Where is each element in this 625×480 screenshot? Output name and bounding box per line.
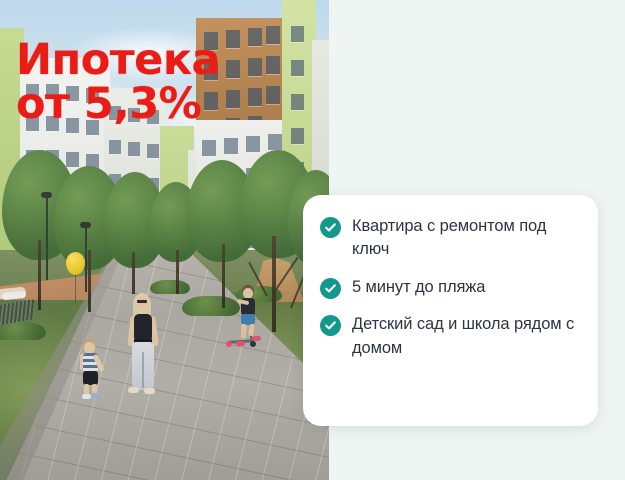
hedge-right [182,296,240,316]
lamp-post [46,196,48,280]
balloon-string [75,273,76,303]
woman-shoe-left [128,387,139,393]
feature-label: Детский сад и школа рядом с домом [352,313,580,360]
list-item: 5 минут до пляжа [320,276,580,299]
tree-trunk [132,252,135,294]
lamp-head [41,192,52,198]
mortgage-ad-banner: Ипотека от 5,3% ЦИАН Квартира с ремонтом… [0,0,625,480]
hedge-center [150,280,190,294]
check-circle-icon [320,217,341,238]
tree-trunk [222,244,225,308]
lamp-head [80,222,91,228]
scooter-kid-shoe-rear [236,341,245,346]
sunglasses-icon [137,300,147,303]
check-circle-icon [320,278,341,299]
woman-top [134,314,152,340]
scooter-kid-shoe-front [252,336,261,341]
feature-label: 5 минут до пляжа [352,276,485,299]
scooter-wheel-rear [226,341,232,347]
feature-label: Квартира с ремонтом под ключ [352,215,580,262]
woman-shoe-right [144,388,155,394]
child-shorts [83,371,98,385]
features-card: Квартира с ремонтом под ключ 5 минут до … [303,195,598,426]
scooter-kid-leg-left [241,324,246,338]
child-shoe-right [91,393,101,398]
page-title: Ипотека от 5,3% [16,38,286,127]
tree-trunk [176,250,179,294]
check-circle-icon [320,315,341,336]
woman-jeans-seam [142,352,144,388]
lamp-post [85,226,87,292]
woman-head [136,296,148,310]
tree-trunk [88,250,91,312]
tree-trunk [272,236,276,332]
child-shoe-left [82,394,91,399]
tree-trunk [38,240,41,310]
list-item: Детский сад и школа рядом с домом [320,313,580,360]
hedge-left [0,322,46,340]
list-item: Квартира с ремонтом под ключ [320,215,580,262]
scooter-wheel-front [250,341,256,347]
